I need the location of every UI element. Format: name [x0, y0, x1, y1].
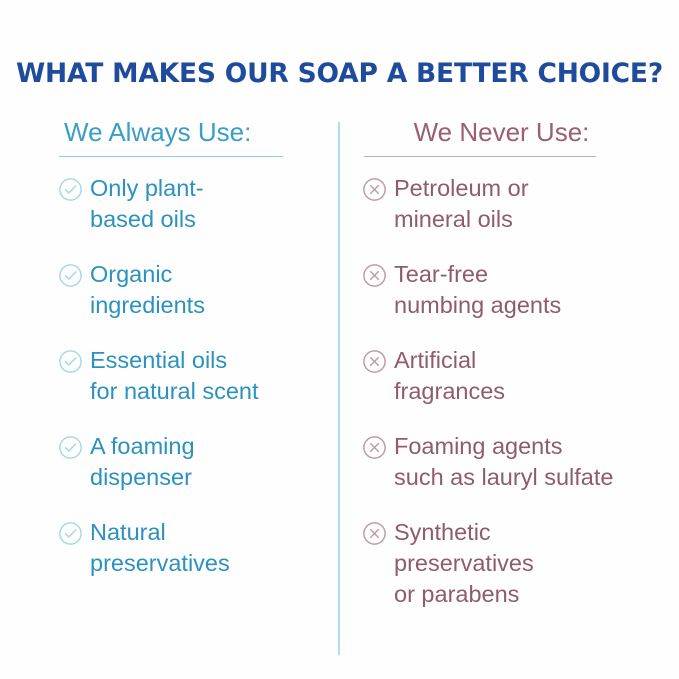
list-item-label: A foaming dispenser	[90, 431, 195, 493]
check-circle-icon	[58, 435, 83, 460]
check-circle-icon	[58, 521, 83, 546]
list-item: Essential oils for natural scent	[58, 345, 314, 407]
list-item-label: Synthetic preservatives or parabens	[394, 517, 534, 610]
x-circle-icon	[362, 177, 387, 202]
list-item: Tear-free numbing agents	[362, 259, 659, 321]
x-circle-icon	[362, 263, 387, 288]
list-item: Petroleum or mineral oils	[362, 173, 659, 235]
x-circle-icon	[362, 349, 387, 374]
comparison-poster: WHAT MAKES OUR SOAP A BETTER CHOICE? We …	[0, 0, 679, 679]
list-item-label: Essential oils for natural scent	[90, 345, 259, 407]
negative-header-rule	[364, 156, 596, 158]
x-circle-icon	[362, 435, 387, 460]
positive-list: Only plant- based oils Organic ingredien…	[58, 173, 314, 579]
check-circle-icon	[58, 263, 83, 288]
negative-column-header: We Never Use:	[362, 118, 659, 156]
negative-column: We Never Use: Petroleum or mineral oils	[338, 118, 679, 634]
list-item: Foaming agents such as lauryl sulfate	[362, 431, 659, 493]
list-item-label: Foaming agents such as lauryl sulfate	[394, 431, 613, 493]
list-item: Only plant- based oils	[58, 173, 314, 235]
list-item: Organic ingredients	[58, 259, 314, 321]
list-item-label: Petroleum or mineral oils	[394, 173, 529, 235]
positive-column: We Always Use: Only plant- based oils	[0, 118, 338, 634]
list-item-label: Artificial fragrances	[394, 345, 505, 407]
list-item: A foaming dispenser	[58, 431, 314, 493]
list-item-label: Only plant- based oils	[90, 173, 204, 235]
page-title: WHAT MAKES OUR SOAP A BETTER CHOICE?	[0, 58, 679, 89]
comparison-columns: We Always Use: Only plant- based oils	[0, 118, 679, 634]
list-item-label: Natural preservatives	[90, 517, 230, 579]
list-item-label: Tear-free numbing agents	[394, 259, 561, 321]
negative-list: Petroleum or mineral oils Tear-free numb…	[362, 173, 659, 610]
check-circle-icon	[58, 177, 83, 202]
list-item: Natural preservatives	[58, 517, 314, 579]
list-item-label: Organic ingredients	[90, 259, 205, 321]
list-item: Synthetic preservatives or parabens	[362, 517, 659, 610]
x-circle-icon	[362, 521, 387, 546]
check-circle-icon	[58, 349, 83, 374]
positive-header-rule	[59, 156, 283, 158]
positive-column-header: We Always Use:	[58, 118, 314, 156]
list-item: Artificial fragrances	[362, 345, 659, 407]
